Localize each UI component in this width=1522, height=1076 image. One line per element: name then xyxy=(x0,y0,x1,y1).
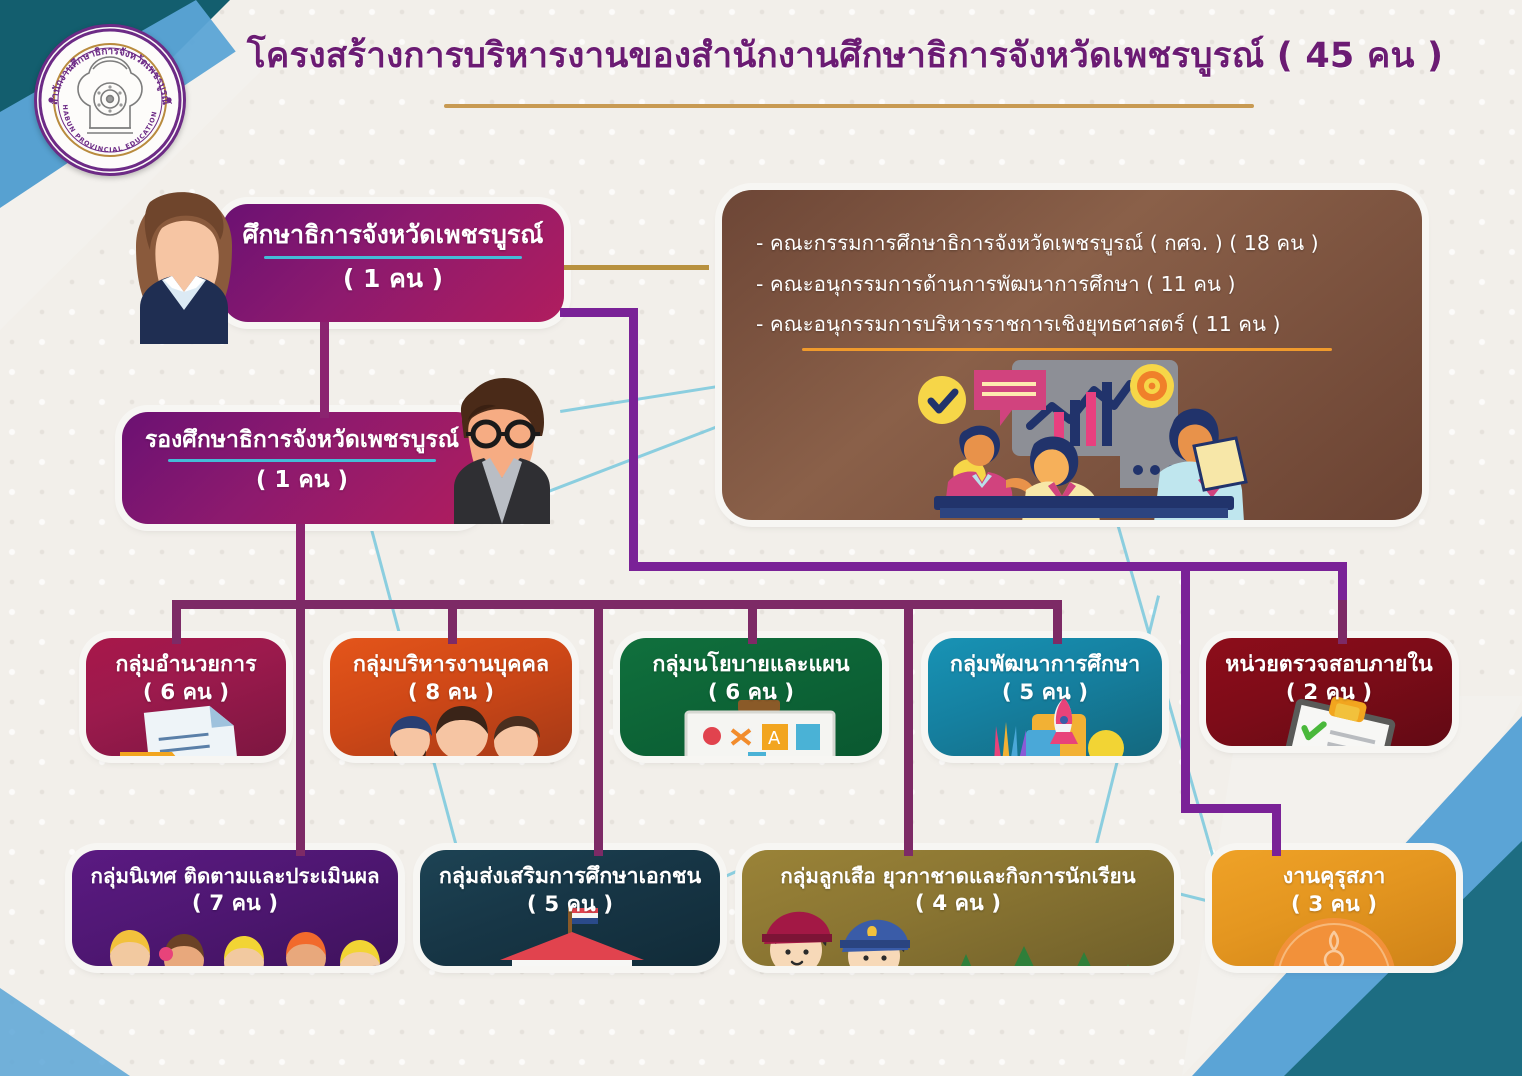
node-group-personnel[interactable]: กลุ่มบริหารงานบุคคล ( 8 คน ) xyxy=(330,638,572,756)
node-private-title: กลุ่มส่งเสริมการศึกษาเอกชน xyxy=(420,850,720,890)
node-group-scouts[interactable]: กลุ่มลูกเสือ ยุวกาชาดและกิจการนักเรียน (… xyxy=(742,850,1174,966)
connector-deputy-to-bus xyxy=(296,524,305,606)
office-logo: สำนักงานศึกษาธิการจังหวัดเพชรบูรณ์ PHETC… xyxy=(34,24,186,176)
node-kurusapa-title: งานคุรุสภา xyxy=(1212,850,1456,890)
page-title: โครงสร้างการบริหารงานของสำนักงานศึกษาธิก… xyxy=(200,36,1490,77)
people-group-icon xyxy=(366,700,562,756)
node-person-title: กลุ่มบริหารงานบุคคล xyxy=(330,638,572,678)
node-admin-title: กลุ่มอำนวยการ xyxy=(86,638,286,678)
infographic-canvas: สำนักงานศึกษาธิการจังหวัดเพชรบูรณ์ PHETC… xyxy=(0,0,1522,1076)
node-scout-count: ( 4 คน ) xyxy=(742,889,1174,917)
connector-drop-private xyxy=(594,606,603,856)
node-director-count: ( 1 คน ) xyxy=(222,262,564,294)
node-group-supervision[interactable]: กลุ่มนิเทศ ติดตามและประเมินผล ( 7 คน ) xyxy=(72,850,398,966)
node-audit-count: ( 2 คน ) xyxy=(1206,678,1452,706)
connector-kurusapa-horizontal xyxy=(1181,804,1279,813)
node-scout-title: กลุ่มลูกเสือ ยุวกาชาดและกิจการนักเรียน xyxy=(742,850,1174,889)
connector-kurusapa-vertical xyxy=(1272,804,1281,856)
node-private-count: ( 5 คน ) xyxy=(420,890,720,918)
node-group-education-development[interactable]: กลุ่มพัฒนาการศึกษา ( 5 คน ) xyxy=(928,638,1162,756)
committee-item-1: - คณะกรรมการศึกษาธิการจังหวัดเพชรบูรณ์ (… xyxy=(756,232,1388,255)
node-develop-count: ( 5 คน ) xyxy=(928,678,1162,706)
connector-director-to-deputy xyxy=(320,322,329,418)
node-director[interactable]: ศึกษาธิการจังหวัดเพชรบูรณ์ ( 1 คน ) xyxy=(222,204,564,322)
node-group-kurusapa[interactable]: งานคุรุสภา ( 3 คน ) xyxy=(1212,850,1456,966)
node-kurusapa-count: ( 3 คน ) xyxy=(1212,890,1456,918)
node-person-count: ( 8 คน ) xyxy=(330,678,572,706)
connector-committee-bus-horizontal xyxy=(629,562,1347,571)
node-group-internal-audit[interactable]: หน่วยตรวจสอบภายใน ( 2 คน ) xyxy=(1206,638,1452,746)
committee-list: - คณะกรรมการศึกษาธิการจังหวัดเพชรบูรณ์ (… xyxy=(722,206,1422,336)
connector-main-bus xyxy=(172,600,1062,609)
node-deputy-count: ( 1 คน ) xyxy=(122,465,482,495)
folder-document-icon xyxy=(104,700,280,756)
committee-item-2: - คณะอนุกรรมการด้านการพัฒนาการศึกษา ( 11… xyxy=(756,273,1388,296)
node-super-count: ( 7 คน ) xyxy=(72,889,398,917)
meeting-illustration xyxy=(904,356,1264,520)
node-policy-count: ( 6 คน ) xyxy=(620,678,882,706)
node-admin-count: ( 6 คน ) xyxy=(86,678,286,706)
node-director-title: ศึกษาธิการจังหวัดเพชรบูรณ์ xyxy=(222,204,564,251)
connector-drop-supervision xyxy=(296,606,305,856)
node-group-policy-plan[interactable]: กลุ่มนโยบายและแผน ( 6 คน ) A xyxy=(620,638,882,756)
node-audit-title: หน่วยตรวจสอบภายใน xyxy=(1206,638,1452,678)
node-group-private-education[interactable]: กลุ่มส่งเสริมการศึกษาเอกชน ( 5 คน ) xyxy=(420,850,720,966)
connector-drop-scout xyxy=(904,606,913,856)
node-deputy-rule xyxy=(168,459,436,462)
node-policy-title: กลุ่มนโยบายและแผน xyxy=(620,638,882,678)
committee-rule xyxy=(802,348,1332,351)
node-super-title: กลุ่มนิเทศ ติดตามและประเมินผล xyxy=(72,850,398,889)
children-reading-icon xyxy=(78,916,392,966)
committee-item-3: - คณะอนุกรรมการบริหารราชการเชิงยุทธศาสตร… xyxy=(756,313,1388,336)
node-committee-panel[interactable]: - คณะกรรมการศึกษาธิการจังหวัดเพชรบูรณ์ (… xyxy=(722,190,1422,520)
connector-director-right-vertical xyxy=(629,308,638,570)
connector-director-to-right-stub xyxy=(564,265,709,270)
kurusapa-seal-icon xyxy=(1266,912,1402,966)
node-deputy-director[interactable]: รองศึกษาธิการจังหวัดเพชรบูรณ์ ( 1 คน ) xyxy=(122,412,482,524)
node-deputy-title: รองศึกษาธิการจังหวัดเพชรบูรณ์ xyxy=(122,412,482,454)
svg-text:A: A xyxy=(768,728,781,749)
connector-director-right-horizontal xyxy=(560,308,638,317)
node-group-administration[interactable]: กลุ่มอำนวยการ ( 6 คน ) xyxy=(86,638,286,756)
connector-audit-left-vertical xyxy=(1181,562,1190,812)
presentation-board-icon: A xyxy=(664,700,854,756)
title-underline xyxy=(444,104,1254,108)
node-director-rule xyxy=(264,256,522,259)
node-develop-title: กลุ่มพัฒนาการศึกษา xyxy=(928,638,1162,678)
